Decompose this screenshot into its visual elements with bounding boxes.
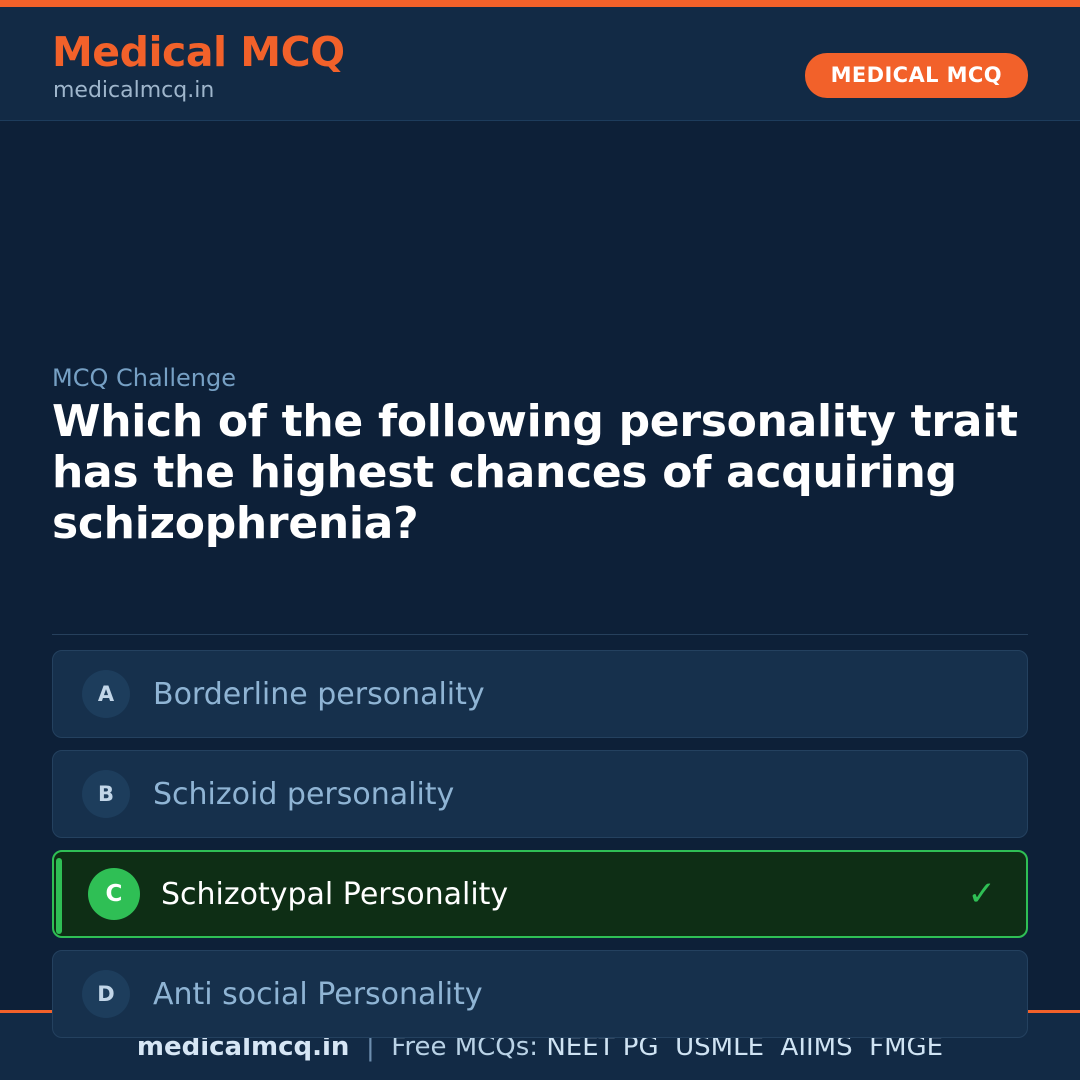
brand-subtitle: medicalmcq.in xyxy=(53,78,214,103)
question-text: Which of the following personality trait… xyxy=(52,396,1032,549)
option-a-letter: A xyxy=(82,670,130,718)
option-c-letter: C xyxy=(88,868,140,920)
header: Medical MCQ medicalmcq.in MEDICAL MCQ xyxy=(0,7,1080,121)
options-list: A Borderline personality B Schizoid pers… xyxy=(52,650,1028,1050)
brand-badge: MEDICAL MCQ xyxy=(805,53,1028,98)
section-divider xyxy=(52,634,1028,635)
option-d-label: Anti social Personality xyxy=(153,977,483,1012)
correct-accent-bar xyxy=(56,858,62,934)
kicker-label: MCQ Challenge xyxy=(52,364,236,392)
check-icon: ✓ xyxy=(968,877,997,911)
option-d[interactable]: D Anti social Personality xyxy=(52,950,1028,1038)
option-b-label: Schizoid personality xyxy=(153,777,454,812)
option-c[interactable]: C Schizotypal Personality ✓ xyxy=(52,850,1028,938)
option-a[interactable]: A Borderline personality xyxy=(52,650,1028,738)
top-accent-strip xyxy=(0,0,1080,7)
option-b-letter: B xyxy=(82,770,130,818)
main-content: MCQ Challenge Which of the following per… xyxy=(0,121,1080,1010)
option-b[interactable]: B Schizoid personality xyxy=(52,750,1028,838)
option-c-label: Schizotypal Personality xyxy=(161,877,508,912)
brand-title: Medical MCQ xyxy=(52,28,345,76)
option-a-label: Borderline personality xyxy=(153,677,485,712)
option-d-letter: D xyxy=(82,970,130,1018)
mcq-card: Medical MCQ medicalmcq.in MEDICAL MCQ MC… xyxy=(0,0,1080,1080)
